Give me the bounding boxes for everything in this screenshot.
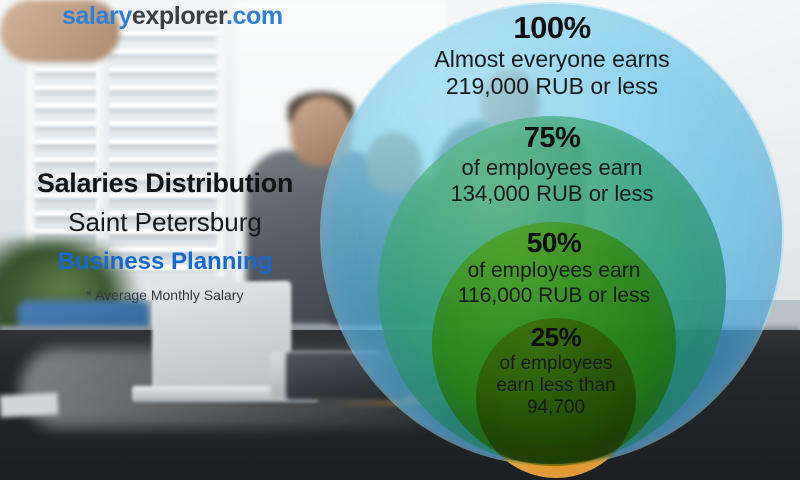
job-title-label: Business Planning	[0, 248, 330, 276]
location-label: Saint Petersburg	[0, 208, 330, 238]
salary-period-note: * Average Monthly Salary	[0, 287, 330, 303]
logo-part-salary: salary	[62, 2, 132, 30]
percentile-circle-25[interactable]	[476, 318, 636, 478]
logo-part-com: .com	[226, 2, 283, 30]
heading-block: Salaries Distribution Saint Petersburg B…	[0, 168, 330, 303]
logo-part-explorer: explorer	[132, 2, 226, 30]
site-logo[interactable]: salaryexplorer.com	[62, 2, 283, 31]
page-title: Salaries Distribution	[0, 168, 330, 199]
